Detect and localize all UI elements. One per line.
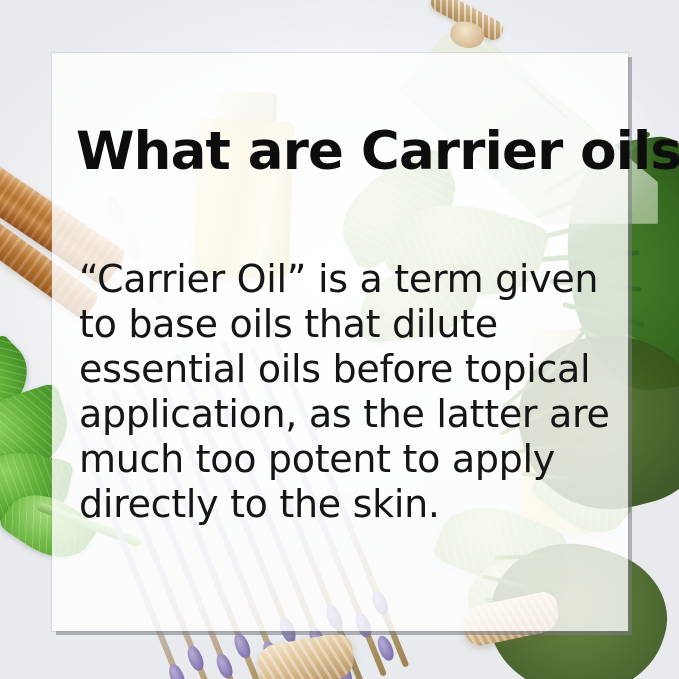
text-content-area: What are Carrier oils ? “Carrier Oil” is… — [52, 53, 628, 631]
page-title: What are Carrier oils ? — [76, 125, 616, 178]
body-paragraph: “Carrier Oil” is a term given to base oi… — [79, 257, 619, 527]
carrier-oils-infographic: What are Carrier oils ? “Carrier Oil” is… — [0, 0, 679, 679]
